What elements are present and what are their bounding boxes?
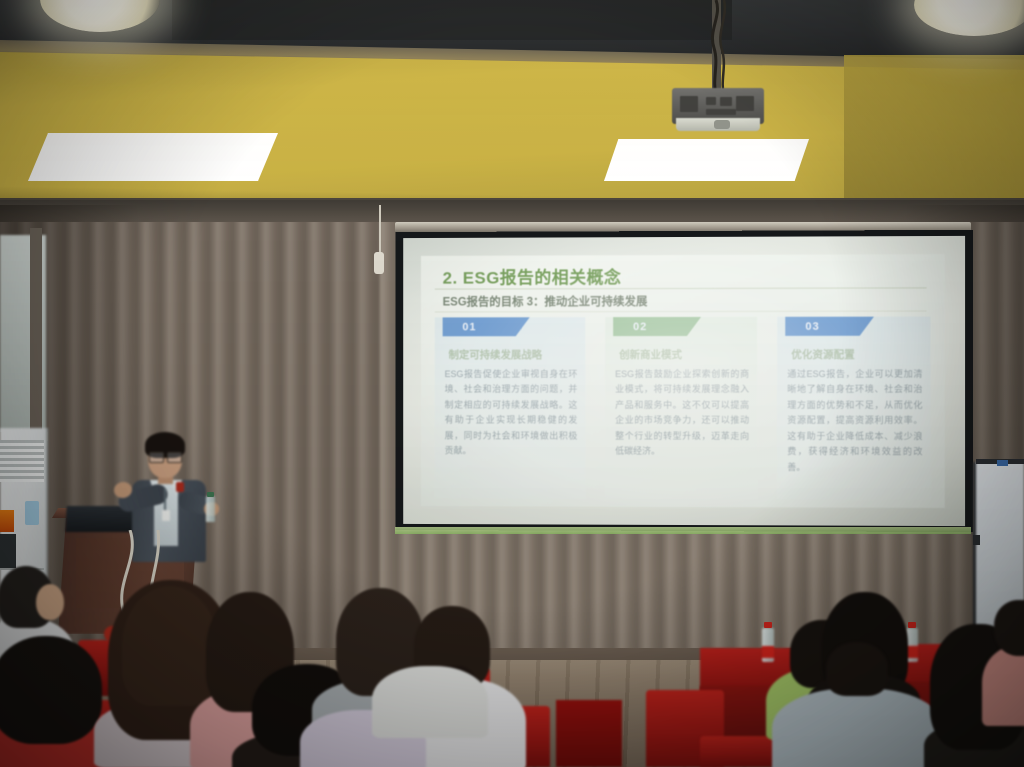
column-number-badge: 02 <box>613 317 701 336</box>
column-heading: 优化资源配置 <box>791 347 922 362</box>
audience-seat-shadow <box>556 700 622 767</box>
air-conditioner-vents <box>0 440 44 482</box>
screen-bottom-accent <box>395 527 971 534</box>
slide-columns: 01 制定可持续发展战略 ESG报告促使企业审视自身在环境、社会和治理方面的问题… <box>435 317 931 500</box>
audience-member <box>372 640 482 730</box>
hanging-microphone-icon <box>374 252 384 274</box>
column-number-label: 02 <box>633 321 647 333</box>
projector-lens-icon <box>714 120 730 129</box>
led-panel-light-icon <box>604 139 809 181</box>
presenter-eyeglasses-icon <box>149 452 164 463</box>
presenter-name-badge <box>162 510 170 521</box>
slide-title: 2. ESG报告的相关概念 <box>443 263 622 288</box>
column-heading: 创新商业模式 <box>619 347 749 362</box>
slide-title-divider <box>435 287 927 289</box>
presentation-slide: 2. ESG报告的相关概念 ESG报告的目标 3：推动企业可持续发展 01 制定… <box>421 254 945 508</box>
led-panel-light-icon <box>28 133 278 181</box>
air-conditioner-control-panel[interactable] <box>0 534 16 568</box>
water-bottle-cap <box>207 492 214 497</box>
column-number-label: 03 <box>805 320 819 332</box>
slide-subtitle-divider <box>435 311 927 313</box>
audience-member <box>772 660 942 767</box>
hanging-microphone-wire <box>379 205 381 257</box>
whiteboard-clip-icon <box>997 460 1008 466</box>
lecture-hall-photo: 2. ESG报告的相关概念 ESG报告的目标 3：推动企业可持续发展 01 制定… <box>0 0 1024 767</box>
projector-cable <box>700 0 734 96</box>
window-frame <box>30 228 42 448</box>
projection-screen-surface: 2. ESG报告的相关概念 ESG报告的目标 3：推动企业可持续发展 01 制定… <box>403 236 965 526</box>
column-body-text: ESG报告鼓励企业探索创新的商业模式，将可持续发展理念融入产品和服务中。这不仅可… <box>615 367 749 460</box>
whiteboard-knob <box>973 535 980 545</box>
slide-column: 03 优化资源配置 通过ESG报告，企业可以更加清晰地了解自身在环境、社会和治理… <box>777 317 930 500</box>
column-body-text: ESG报告促使企业审视自身在环境、社会和治理方面的问题，并制定相应的可持续发展战… <box>445 367 578 460</box>
column-number-label: 01 <box>462 321 476 333</box>
curtain-valance <box>0 200 1024 222</box>
column-body-text: 通过ESG报告，企业可以更加清晰地了解自身在环境、社会和治理方面的优势和不足，从… <box>787 367 922 476</box>
air-conditioner-display <box>0 510 14 532</box>
air-conditioner-sticker <box>25 501 39 525</box>
ceiling-soffit-right <box>844 55 1024 205</box>
column-heading: 制定可持续发展战略 <box>449 347 578 362</box>
slide-column: 02 创新商业模式 ESG报告鼓励企业探索创新的商业模式，将可持续发展理念融入产… <box>605 317 757 499</box>
column-number-badge: 01 <box>443 317 530 336</box>
presenter-microphone-icon <box>176 482 184 492</box>
ceiling-recess <box>172 0 732 40</box>
audience-member <box>986 600 1024 720</box>
column-number-badge: 03 <box>785 317 874 336</box>
projection-screen-border: 2. ESG报告的相关概念 ESG报告的目标 3：推动企业可持续发展 01 制定… <box>395 230 973 532</box>
presenter-lanyard <box>164 488 166 512</box>
presenter-eyeglasses-icon <box>167 452 182 463</box>
slide-column: 01 制定可持续发展战略 ESG报告促使企业审视自身在环境、社会和治理方面的问题… <box>435 317 586 499</box>
water-bottle-on-podium <box>206 496 215 522</box>
projection-screen-assembly: 2. ESG报告的相关概念 ESG报告的目标 3：推动企业可持续发展 01 制定… <box>393 222 971 542</box>
slide-subtitle: ESG报告的目标 3：推动企业可持续发展 <box>443 293 648 309</box>
